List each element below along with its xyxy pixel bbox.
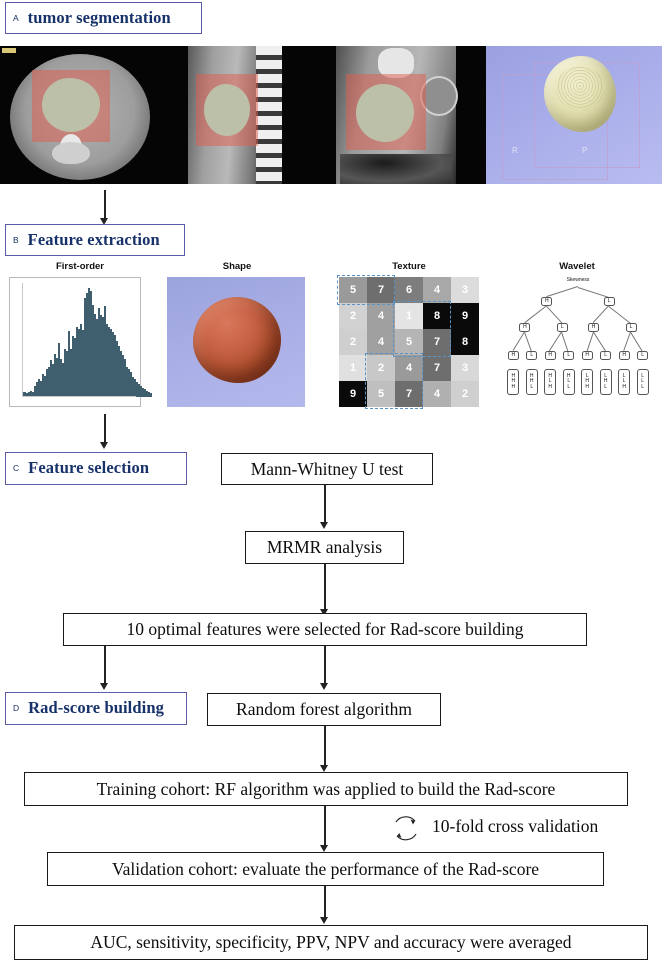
ct-corner-annotation — [3, 177, 4, 181]
shape-render-panel — [167, 277, 305, 407]
texture-cell: 4 — [423, 277, 451, 303]
ct-axial-view — [0, 46, 160, 184]
histogram-bar — [150, 393, 152, 397]
cross-validation-label: 10-fold cross validation — [432, 816, 598, 837]
axis-label-posterior: P — [582, 146, 587, 155]
wavelet-leaf: HHH — [507, 369, 519, 395]
tree-edge — [609, 306, 631, 324]
texture-cell: 4 — [367, 329, 395, 355]
texture-cell: 7 — [423, 355, 451, 381]
wavelet-node-l2: H — [519, 323, 530, 332]
tree-edge — [547, 286, 578, 297]
ct-coronal-view — [316, 46, 486, 184]
ct-sagittal-view — [160, 46, 316, 184]
texture-cell: 6 — [395, 277, 423, 303]
cross-validation-cycle-icon — [386, 812, 426, 846]
arrow-b-to-c — [104, 414, 106, 444]
histogram-y-axis — [22, 283, 23, 397]
arrow-rf-to-training — [324, 726, 326, 767]
wavelet-node-l2: L — [626, 323, 637, 332]
wavelet-node-l1: H — [541, 297, 552, 306]
tumor-shape-mesh — [193, 297, 281, 383]
section-letter: B — [13, 236, 19, 245]
mrmr-box[interactable]: MRMR analysis — [245, 531, 404, 564]
section-label-a: A tumor segmentation — [5, 2, 202, 34]
wavelet-node-l3: L — [637, 351, 648, 360]
arrow-training-to-validation-head — [320, 845, 328, 852]
arrow-validation-to-metrics — [324, 886, 326, 919]
tree-edge — [513, 332, 525, 351]
tree-edge — [550, 332, 563, 351]
texture-cell: 3 — [451, 355, 479, 381]
wavelet-node-l3: H — [508, 351, 519, 360]
wavelet-node-l2: L — [557, 323, 568, 332]
arrow-optimal-to-rf-head — [320, 683, 328, 690]
texture-cell: 4 — [367, 303, 395, 329]
texture-cell: 3 — [451, 277, 479, 303]
arrow-b-to-c-head — [100, 442, 108, 449]
caption-first-order: First-order — [20, 261, 140, 272]
arrow-a-to-b — [104, 190, 106, 220]
arrow-optimal-to-d — [104, 646, 106, 685]
texture-cell: 9 — [451, 303, 479, 329]
texture-cell: 1 — [339, 355, 367, 381]
histogram-bars — [22, 283, 136, 397]
tree-edge — [562, 332, 569, 351]
wavelet-leaf: HLL — [563, 369, 575, 395]
caption-texture: Texture — [350, 261, 468, 272]
caption-wavelet: Wavelet — [518, 261, 636, 272]
wavelet-leaf: LHH — [581, 369, 593, 395]
tumor-region — [356, 84, 414, 142]
metrics-box[interactable]: AUC, sensitivity, specificity, PPV, NPV … — [14, 925, 648, 960]
tree-edge — [587, 332, 594, 351]
wavelet-node-l1: L — [604, 297, 615, 306]
tree-edge — [546, 306, 562, 323]
texture-selection-window-2 — [393, 301, 451, 357]
axis-label-right: R — [512, 146, 518, 155]
arrow-mrmr-to-optimal — [324, 564, 326, 611]
section-title: Feature selection — [28, 460, 149, 477]
texture-cell: 2 — [339, 303, 367, 329]
section-label-c: C Feature selection — [5, 452, 187, 485]
wavelet-node-l3: L — [563, 351, 574, 360]
wavelet-node-l3: H — [619, 351, 630, 360]
wavelet-node-l3: H — [582, 351, 593, 360]
section-label-d: D Rad-score building — [5, 692, 187, 725]
arrow-optimal-to-d-head — [100, 683, 108, 690]
tree-edge — [578, 287, 609, 298]
training-cohort-box[interactable]: Training cohort: RF algorithm was applie… — [24, 772, 628, 806]
section-title: tumor segmentation — [28, 10, 171, 27]
texture-selection-window-3 — [365, 353, 423, 409]
tree-edge — [525, 305, 547, 323]
random-forest-box[interactable]: Random forest algorithm — [207, 693, 441, 726]
arrow-validation-to-metrics-head — [320, 917, 328, 924]
texture-selection-window-1 — [337, 275, 395, 305]
mann-whitney-box[interactable]: Mann-Whitney U test — [221, 453, 433, 485]
arrow-mw-to-mrmr — [324, 485, 326, 524]
histogram-x-axis — [22, 396, 136, 397]
wavelet-node-l3: L — [600, 351, 611, 360]
tumor-region — [42, 78, 100, 132]
wavelet-leaf: HLH — [544, 369, 556, 395]
section-letter: A — [13, 14, 19, 23]
arrow-rf-to-training-head — [320, 765, 328, 772]
tree-edge — [593, 332, 606, 351]
wavelet-decomposition-tree: SkewnessHLHLHLHLHLHLHLHHHHHLHLHHLLLHHLHL… — [500, 277, 656, 409]
texture-cell: 2 — [339, 329, 367, 355]
arrow-optimal-to-rf — [324, 646, 326, 685]
texture-cell: 2 — [451, 381, 479, 407]
section-letter: D — [13, 704, 19, 713]
arrow-training-to-validation — [324, 806, 326, 847]
tumor-mesh — [544, 56, 616, 132]
validation-cohort-box[interactable]: Validation cohort: evaluate the performa… — [47, 852, 604, 886]
ct-image-strip: R P — [0, 46, 662, 184]
tree-edge — [630, 332, 642, 351]
first-order-histogram — [9, 277, 141, 407]
tree-edge — [624, 332, 632, 351]
wavelet-leaf: HHL — [526, 369, 538, 395]
tumor-3d-render: R P — [486, 46, 662, 184]
wavelet-node-l3: L — [526, 351, 537, 360]
wavelet-leaf: LLH — [618, 369, 630, 395]
wavelet-leaf: LHL — [600, 369, 612, 395]
wavelet-root-label: Skewness — [500, 277, 656, 283]
arrow-mw-to-mrmr-head — [320, 522, 328, 529]
section-letter: C — [13, 464, 19, 473]
texture-cell: 8 — [451, 329, 479, 355]
section-title: Rad-score building — [28, 700, 164, 717]
tree-edge — [524, 332, 531, 351]
texture-cell: 4 — [423, 381, 451, 407]
section-title: Feature extraction — [28, 232, 160, 249]
caption-shape: Shape — [178, 261, 296, 272]
section-label-b: B Feature extraction — [5, 224, 185, 256]
texture-cell: 9 — [339, 381, 367, 407]
mesh-contour-lines — [556, 66, 604, 110]
tumor-region — [204, 84, 250, 136]
optimal-features-box[interactable]: 10 optimal features were selected for Ra… — [63, 613, 587, 646]
tree-edge — [593, 306, 609, 323]
wavelet-leaf: LLL — [637, 369, 649, 395]
wavelet-node-l3: H — [545, 351, 556, 360]
